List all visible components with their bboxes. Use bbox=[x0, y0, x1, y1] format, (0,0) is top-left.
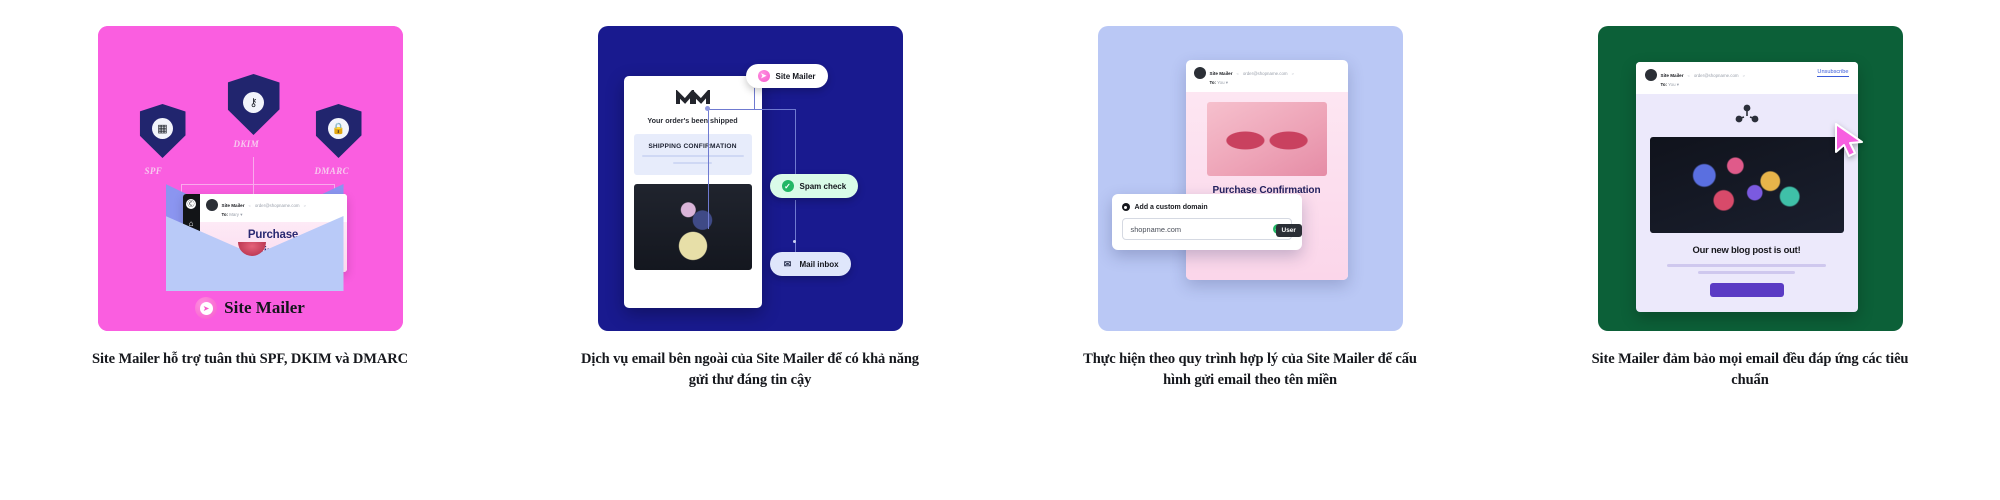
avatar bbox=[206, 199, 218, 211]
flow-node-mail-inbox[interactable]: ✉ Mail inbox bbox=[770, 252, 851, 276]
flow-junction-dot bbox=[793, 240, 796, 243]
sender-address: order@shopname.com bbox=[1694, 73, 1739, 78]
chevron-down-icon: ▾ bbox=[1226, 80, 1228, 85]
user-badge: User bbox=[1276, 224, 1302, 237]
sender-name: Site Mailer bbox=[1210, 71, 1233, 76]
domain-input[interactable]: shopname.com ✓ bbox=[1122, 218, 1292, 240]
lock-icon: 🔒 bbox=[328, 118, 349, 139]
placeholder-line bbox=[1667, 264, 1826, 267]
flow-node-site-mailer[interactable]: ➤ Site Mailer bbox=[746, 64, 828, 88]
blog-hero-photo bbox=[1650, 137, 1844, 233]
panel-caption: Dịch vụ email bên ngoài của Site Mailer … bbox=[574, 349, 926, 390]
email-header: Site Mailer < order@shopname.com > To: Y… bbox=[1636, 62, 1858, 94]
panel-gallery: ▦ SPF ⚷ DKIM 🔒 DMARC Ⓒ ⌂ bbox=[0, 0, 2000, 500]
email-header: Site Mailer < order@shopname.com > To: Y… bbox=[1186, 60, 1348, 92]
chevron-down-icon: ▾ bbox=[1677, 82, 1679, 87]
shipping-band: SHIPPING CONFIRMATION bbox=[634, 134, 752, 175]
email-headline: Our new blog post is out! bbox=[1692, 244, 1800, 255]
email-cta-button[interactable] bbox=[1710, 283, 1784, 297]
key-icon: ⚷ bbox=[243, 92, 264, 113]
email-header: Site Mailer < order@shopname.com > To: M… bbox=[200, 194, 347, 222]
brand-name: Site Mailer bbox=[224, 298, 305, 318]
placeholder-line bbox=[673, 162, 712, 164]
to-value: You bbox=[1217, 80, 1224, 85]
check-circle-icon: ✓ bbox=[782, 180, 794, 192]
sender-row: Site Mailer < order@shopname.com > bbox=[1194, 67, 1340, 79]
sender-row: Site Mailer < order@shopname.com > bbox=[206, 199, 341, 211]
flow-edge bbox=[795, 200, 796, 252]
avatar bbox=[1194, 67, 1206, 79]
shield-label-dmarc: DMARC bbox=[315, 166, 350, 176]
flow-node-label: Spam check bbox=[800, 182, 847, 191]
email-body: Purchase Confirmation bbox=[1186, 92, 1348, 280]
chevron-left-icon: < bbox=[1236, 71, 1238, 76]
flow-node-label: Site Mailer bbox=[776, 72, 816, 81]
illustration-card-4: Site Mailer < order@shopname.com > To: Y… bbox=[1598, 26, 1903, 331]
panel-caption: Site Mailer đảm bảo mọi email đều đáp ứn… bbox=[1574, 349, 1926, 390]
sender-address: order@shopname.com bbox=[1243, 71, 1288, 76]
avatar bbox=[1645, 69, 1657, 81]
to-label: To: bbox=[222, 212, 229, 217]
recipient-row: To: You ▾ bbox=[1661, 82, 1818, 88]
illustration-card-2: Your order's been shipped SHIPPING CONFI… bbox=[598, 26, 903, 331]
shipping-band-title: SHIPPING CONFIRMATION bbox=[648, 143, 736, 150]
panel-caption: Site Mailer hỗ trợ tuân thủ SPF, DKIM và… bbox=[74, 349, 426, 370]
flow-edge bbox=[795, 109, 796, 175]
radio-icon[interactable] bbox=[1122, 203, 1130, 211]
illustration-card-3: Site Mailer < order@shopname.com > To: Y… bbox=[1098, 26, 1403, 331]
send-glyph: ➤ bbox=[200, 302, 213, 315]
placeholder-line bbox=[1698, 271, 1795, 274]
flow-node-label: Mail inbox bbox=[800, 260, 839, 269]
store-logo-icon bbox=[634, 90, 752, 106]
panel-custom-domain-setup: Site Mailer < order@shopname.com > To: Y… bbox=[1000, 0, 1500, 500]
illustration-card-1: ▦ SPF ⚷ DKIM 🔒 DMARC Ⓒ ⌂ bbox=[98, 26, 403, 331]
sender-address: order@shopname.com bbox=[255, 203, 300, 208]
site-mailer-icon: ➤ bbox=[758, 70, 770, 82]
flow-edge bbox=[708, 109, 796, 110]
flow-node-spam-check[interactable]: ✓ Spam check bbox=[770, 174, 859, 198]
chevron-right-icon: > bbox=[304, 203, 306, 208]
domain-card-label: Add a custom domain bbox=[1135, 204, 1208, 211]
database-icon: ▦ bbox=[152, 118, 173, 139]
product-photo bbox=[634, 184, 752, 270]
custom-domain-card: Add a custom domain shopname.com ✓ bbox=[1112, 194, 1302, 250]
email-body: Our new blog post is out! bbox=[1636, 94, 1858, 312]
chevron-down-icon: ▾ bbox=[240, 212, 242, 217]
brand-lockup: ➤ Site Mailer bbox=[98, 297, 403, 319]
panel-spf-dkim-dmarc: ▦ SPF ⚷ DKIM 🔒 DMARC Ⓒ ⌂ bbox=[0, 0, 500, 500]
order-subtitle: Your order's been shipped bbox=[634, 116, 752, 125]
domain-card-label-row: Add a custom domain bbox=[1122, 203, 1292, 211]
panel-caption: Thực hiện theo quy trình hợp lý của Site… bbox=[1074, 349, 1426, 390]
placeholder-lines bbox=[1650, 264, 1844, 274]
placeholder-line bbox=[642, 155, 744, 157]
flow-edge bbox=[754, 88, 755, 110]
brand-glyph-icon bbox=[1734, 104, 1760, 129]
sender-row: Site Mailer < order@shopname.com > bbox=[1645, 69, 1818, 81]
to-label: To: bbox=[1661, 82, 1668, 87]
connector-line bbox=[181, 184, 334, 185]
wordpress-icon: Ⓒ bbox=[186, 199, 196, 209]
panel-external-email-service: Your order's been shipped SHIPPING CONFI… bbox=[500, 0, 1000, 500]
email-mock-card: Your order's been shipped SHIPPING CONFI… bbox=[624, 76, 762, 308]
to-value: You bbox=[1668, 82, 1675, 87]
site-mailer-icon: ➤ bbox=[195, 297, 217, 319]
email-preview-card: Site Mailer < order@shopname.com > To: Y… bbox=[1636, 62, 1858, 312]
envelope-icon: ✉ bbox=[782, 258, 794, 270]
recipient-row: To: Mary ▾ bbox=[222, 212, 341, 218]
shield-label-dkim: DKIM bbox=[234, 139, 260, 149]
recipient-row: To: You ▾ bbox=[1210, 80, 1340, 86]
sender-name: Site Mailer bbox=[1661, 73, 1684, 78]
flow-junction-dot bbox=[705, 106, 710, 111]
domain-input-value: shopname.com bbox=[1131, 225, 1182, 234]
flow-edge bbox=[708, 109, 709, 229]
chevron-left-icon: < bbox=[248, 203, 250, 208]
sunglasses-photo bbox=[1207, 102, 1327, 176]
panel-email-standards: Site Mailer < order@shopname.com > To: Y… bbox=[1500, 0, 2000, 500]
to-value: Mary bbox=[229, 212, 239, 217]
to-label: To: bbox=[1210, 80, 1217, 85]
shield-label-spf: SPF bbox=[145, 166, 163, 176]
chevron-right-icon: > bbox=[1743, 73, 1745, 78]
sender-name: Site Mailer bbox=[222, 203, 245, 208]
chevron-left-icon: < bbox=[1687, 73, 1689, 78]
chevron-right-icon: > bbox=[1292, 71, 1294, 76]
unsubscribe-link[interactable]: Unsubscribe bbox=[1817, 69, 1848, 77]
